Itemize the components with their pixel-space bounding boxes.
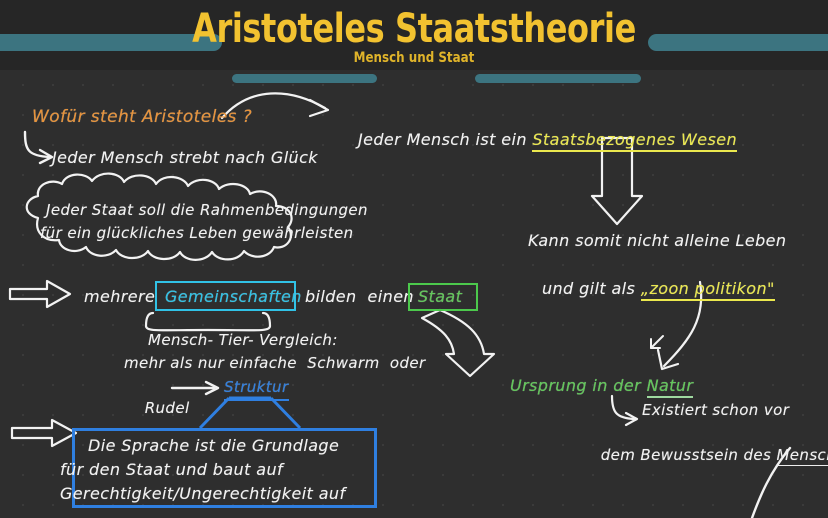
note-question: Wofür steht Aristoteles ? xyxy=(32,105,252,129)
up-arrow-nature xyxy=(651,336,663,348)
note-language-line3: Gerechtigkeit/Ungerechtigkeit auf xyxy=(60,483,345,506)
note-origin-prefix: Ursprung in der xyxy=(510,376,647,395)
note-cloud-line2: für ein glückliches Leben gewährleisten xyxy=(40,223,354,244)
note-state-related: Jeder Mensch ist ein Staatsbezogenes Wes… xyxy=(336,106,737,174)
note-origin-highlight: Natur xyxy=(647,376,694,398)
note-exists-line2-prefix: dem Bewusstsein des xyxy=(601,446,777,464)
note-exists-line1: Existiert schon vor xyxy=(642,400,789,421)
note-language-line1: Die Sprache ist die Grundlage xyxy=(88,435,339,458)
whiteboard-canvas: Aristoteles Staatstheorie Mensch und Sta… xyxy=(0,0,828,518)
page-subtitle: Mensch und Staat xyxy=(62,50,766,66)
page-title: Aristoteles Staatstheorie xyxy=(83,6,745,52)
note-zoon-line1: Kann somit nicht alleine Leben xyxy=(528,230,786,253)
note-community-prefix: mehrere xyxy=(84,286,155,309)
note-structure-highlight: Struktur xyxy=(224,377,289,401)
note-comparison-line3-prefix: Rudel xyxy=(145,399,190,417)
note-zoon-line2-highlight: „zoon politikon" xyxy=(641,279,775,301)
note-state-related-prefix: Jeder Mensch ist ein xyxy=(358,130,532,149)
note-comparison-line2: mehr als nur einfache Schwarm oder xyxy=(124,353,426,374)
header-bar-sub-right xyxy=(475,74,641,83)
hook-arrow-happiness xyxy=(25,132,52,163)
note-community-mid: bilden einen xyxy=(305,286,414,309)
big-arrow-right-language xyxy=(12,420,76,446)
header-bar-sub-left xyxy=(232,74,377,83)
big-arrow-right-communities xyxy=(10,281,70,307)
note-state-box-label: Staat xyxy=(418,286,462,309)
note-cloud-line1: Jeder Staat soll die Rahmenbedingungen xyxy=(46,200,368,221)
note-zoon-line2: und gilt als „zoon politikon" xyxy=(520,255,775,323)
curved-arrow-to-origin xyxy=(422,310,494,376)
note-comparison-line1: Mensch- Tier- Vergleich: xyxy=(148,330,338,351)
note-zoon-line2-prefix: und gilt als xyxy=(542,279,641,298)
note-exists-line2-highlight: Menschen xyxy=(776,446,828,466)
note-state-related-highlight: Staatsbezogenes Wesen xyxy=(532,130,737,152)
note-exists-line2: dem Bewusstsein des Menschen xyxy=(580,424,828,488)
connector-structure-to-language xyxy=(200,398,300,428)
brace-under-communities xyxy=(146,313,270,330)
note-language-line2: für den Staat und baut auf xyxy=(60,459,283,482)
note-happiness: Jeder Mensch strebt nach Glück xyxy=(52,147,318,170)
note-community-box-label: Gemeinschaften xyxy=(165,286,302,309)
